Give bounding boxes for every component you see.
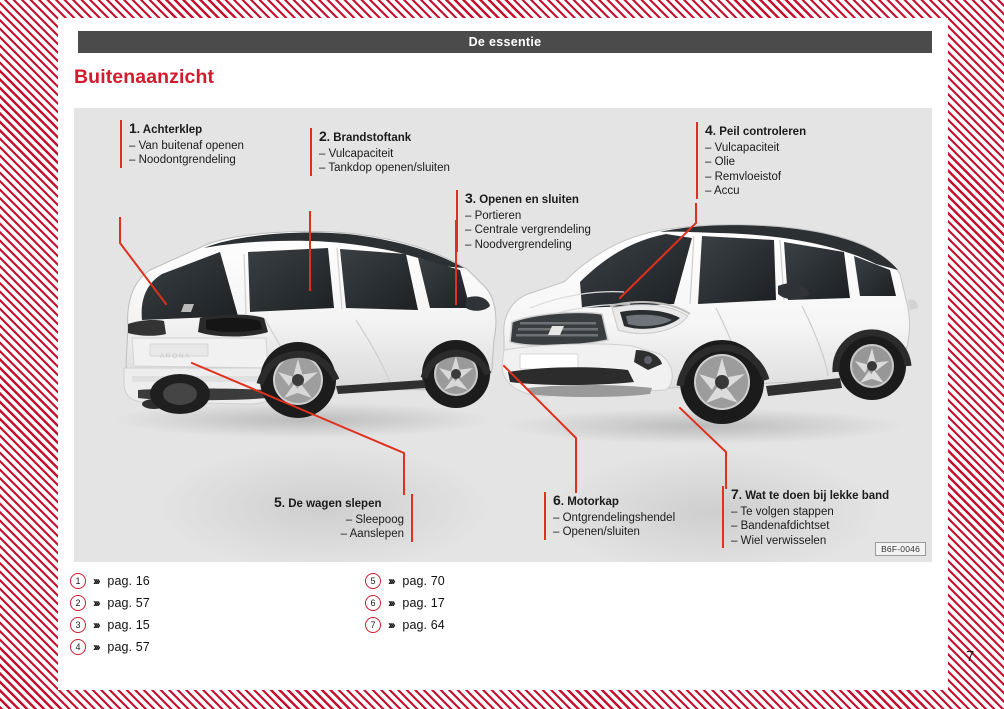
reference-badge: 3	[70, 617, 86, 633]
chevrons-icon: ›››	[388, 596, 393, 610]
callout-4: 4. Peil controleren Vulcapaciteit Olie R…	[696, 122, 806, 199]
page-reference-row[interactable]: 1 ››› pag. 16	[70, 570, 150, 592]
callout-4-list: Vulcapaciteit Olie Remvloeistof Accu	[705, 141, 806, 199]
reference-badge: 4	[70, 639, 86, 655]
chevrons-icon: ›››	[93, 640, 98, 654]
page-reference-row[interactable]: 6 ››› pag. 17	[365, 592, 445, 614]
figure-panel: ARONA	[74, 108, 932, 562]
page-reference-row[interactable]: 3 ››› pag. 15	[70, 614, 150, 636]
callout-7-item: Te volgen stappen	[731, 505, 889, 519]
figure-code-label: B6F-0046	[875, 542, 926, 556]
callout-3-item: Centrale vergrendeling	[465, 223, 591, 237]
callout-1-item: Noodontgrendeling	[129, 153, 244, 167]
callout-6-heading: 6. Motorkap	[553, 492, 675, 510]
callout-2-heading: 2. Brandstoftank	[319, 128, 450, 146]
callout-1-heading: 1. Achterklep	[129, 120, 244, 138]
page-reference-column-right: 5 ››› pag. 70 6 ››› pag. 17 7 ››› pag. 6…	[365, 570, 445, 636]
callout-2-item: Vulcapaciteit	[319, 147, 450, 161]
reference-badge: 2	[70, 595, 86, 611]
callout-2-item: Tankdop openen/sluiten	[319, 161, 450, 175]
callout-5-item: Aanslepen	[274, 527, 404, 541]
page-reference-row[interactable]: 5 ››› pag. 70	[365, 570, 445, 592]
chevrons-icon: ›››	[388, 618, 393, 632]
callout-6-item: Ontgrendelingshendel	[553, 511, 675, 525]
reference-badge: 5	[365, 573, 381, 589]
callout-4-item: Remvloeistof	[705, 170, 806, 184]
reference-page-label: pag. 15	[107, 618, 149, 632]
chevrons-icon: ›››	[93, 618, 98, 632]
callout-3-item: Noodvergrendeling	[465, 238, 591, 252]
reference-badge: 7	[365, 617, 381, 633]
callout-1-item: Van buitenaf openen	[129, 139, 244, 153]
chevrons-icon: ›››	[388, 574, 393, 588]
callout-4-item: Olie	[705, 155, 806, 169]
callout-5: 5. De wagen slepen Sleepoog Aanslepen	[274, 494, 413, 542]
reference-badge: 1	[70, 573, 86, 589]
chapter-header-title: De essentie	[469, 35, 542, 49]
callout-4-heading: 4. Peil controleren	[705, 122, 806, 140]
callout-1: 1. Achterklep Van buitenaf openen Noodon…	[120, 120, 244, 168]
chevrons-icon: ›››	[93, 596, 98, 610]
page-title: Buitenaanzicht	[74, 66, 214, 89]
callout-6: 6. Motorkap Ontgrendelingshendel Openen/…	[544, 492, 675, 540]
page-number: 7	[966, 648, 974, 665]
callout-5-list: Sleepoog Aanslepen	[274, 513, 404, 542]
chevrons-icon: ›››	[93, 574, 98, 588]
reference-page-label: pag. 57	[107, 640, 149, 654]
callout-5-heading: 5. De wagen slepen	[274, 494, 404, 512]
callout-2: 2. Brandstoftank Vulcapaciteit Tankdop o…	[310, 128, 450, 176]
callout-7-list: Te volgen stappen Bandenafdichtset Wiel …	[731, 505, 889, 548]
callout-7-heading: 7. Wat te doen bij lekke band	[731, 486, 889, 504]
callout-4-item: Accu	[705, 184, 806, 198]
callout-3-item: Portieren	[465, 209, 591, 223]
reference-page-label: pag. 64	[402, 618, 444, 632]
callout-4-item: Vulcapaciteit	[705, 141, 806, 155]
chapter-header-band: De essentie	[78, 31, 932, 53]
reference-page-label: pag. 70	[402, 574, 444, 588]
reference-page-label: pag. 57	[107, 596, 149, 610]
page-root: De essentie Buitenaanzicht	[0, 0, 1004, 709]
callout-5-item: Sleepoog	[274, 513, 404, 527]
callout-7-item: Wiel verwisselen	[731, 534, 889, 548]
page-reference-row[interactable]: 2 ››› pag. 57	[70, 592, 150, 614]
page-reference-column-left: 1 ››› pag. 16 2 ››› pag. 57 3 ››› pag. 1…	[70, 570, 150, 658]
callout-7-item: Bandenafdichtset	[731, 519, 889, 533]
callout-6-list: Ontgrendelingshendel Openen/sluiten	[553, 511, 675, 540]
reference-badge: 6	[365, 595, 381, 611]
reference-page-label: pag. 17	[402, 596, 444, 610]
callout-2-list: Vulcapaciteit Tankdop openen/sluiten	[319, 147, 450, 176]
callout-3-list: Portieren Centrale vergrendeling Noodver…	[465, 209, 591, 252]
reference-page-label: pag. 16	[107, 574, 149, 588]
callout-7: 7. Wat te doen bij lekke band Te volgen …	[722, 486, 889, 548]
callout-3: 3. Openen en sluiten Portieren Centrale …	[456, 190, 591, 252]
callout-3-heading: 3. Openen en sluiten	[465, 190, 591, 208]
page-reference-row[interactable]: 4 ››› pag. 57	[70, 636, 150, 658]
page-reference-row[interactable]: 7 ››› pag. 64	[365, 614, 445, 636]
callout-6-item: Openen/sluiten	[553, 525, 675, 539]
callout-1-list: Van buitenaf openen Noodontgrendeling	[129, 139, 244, 168]
